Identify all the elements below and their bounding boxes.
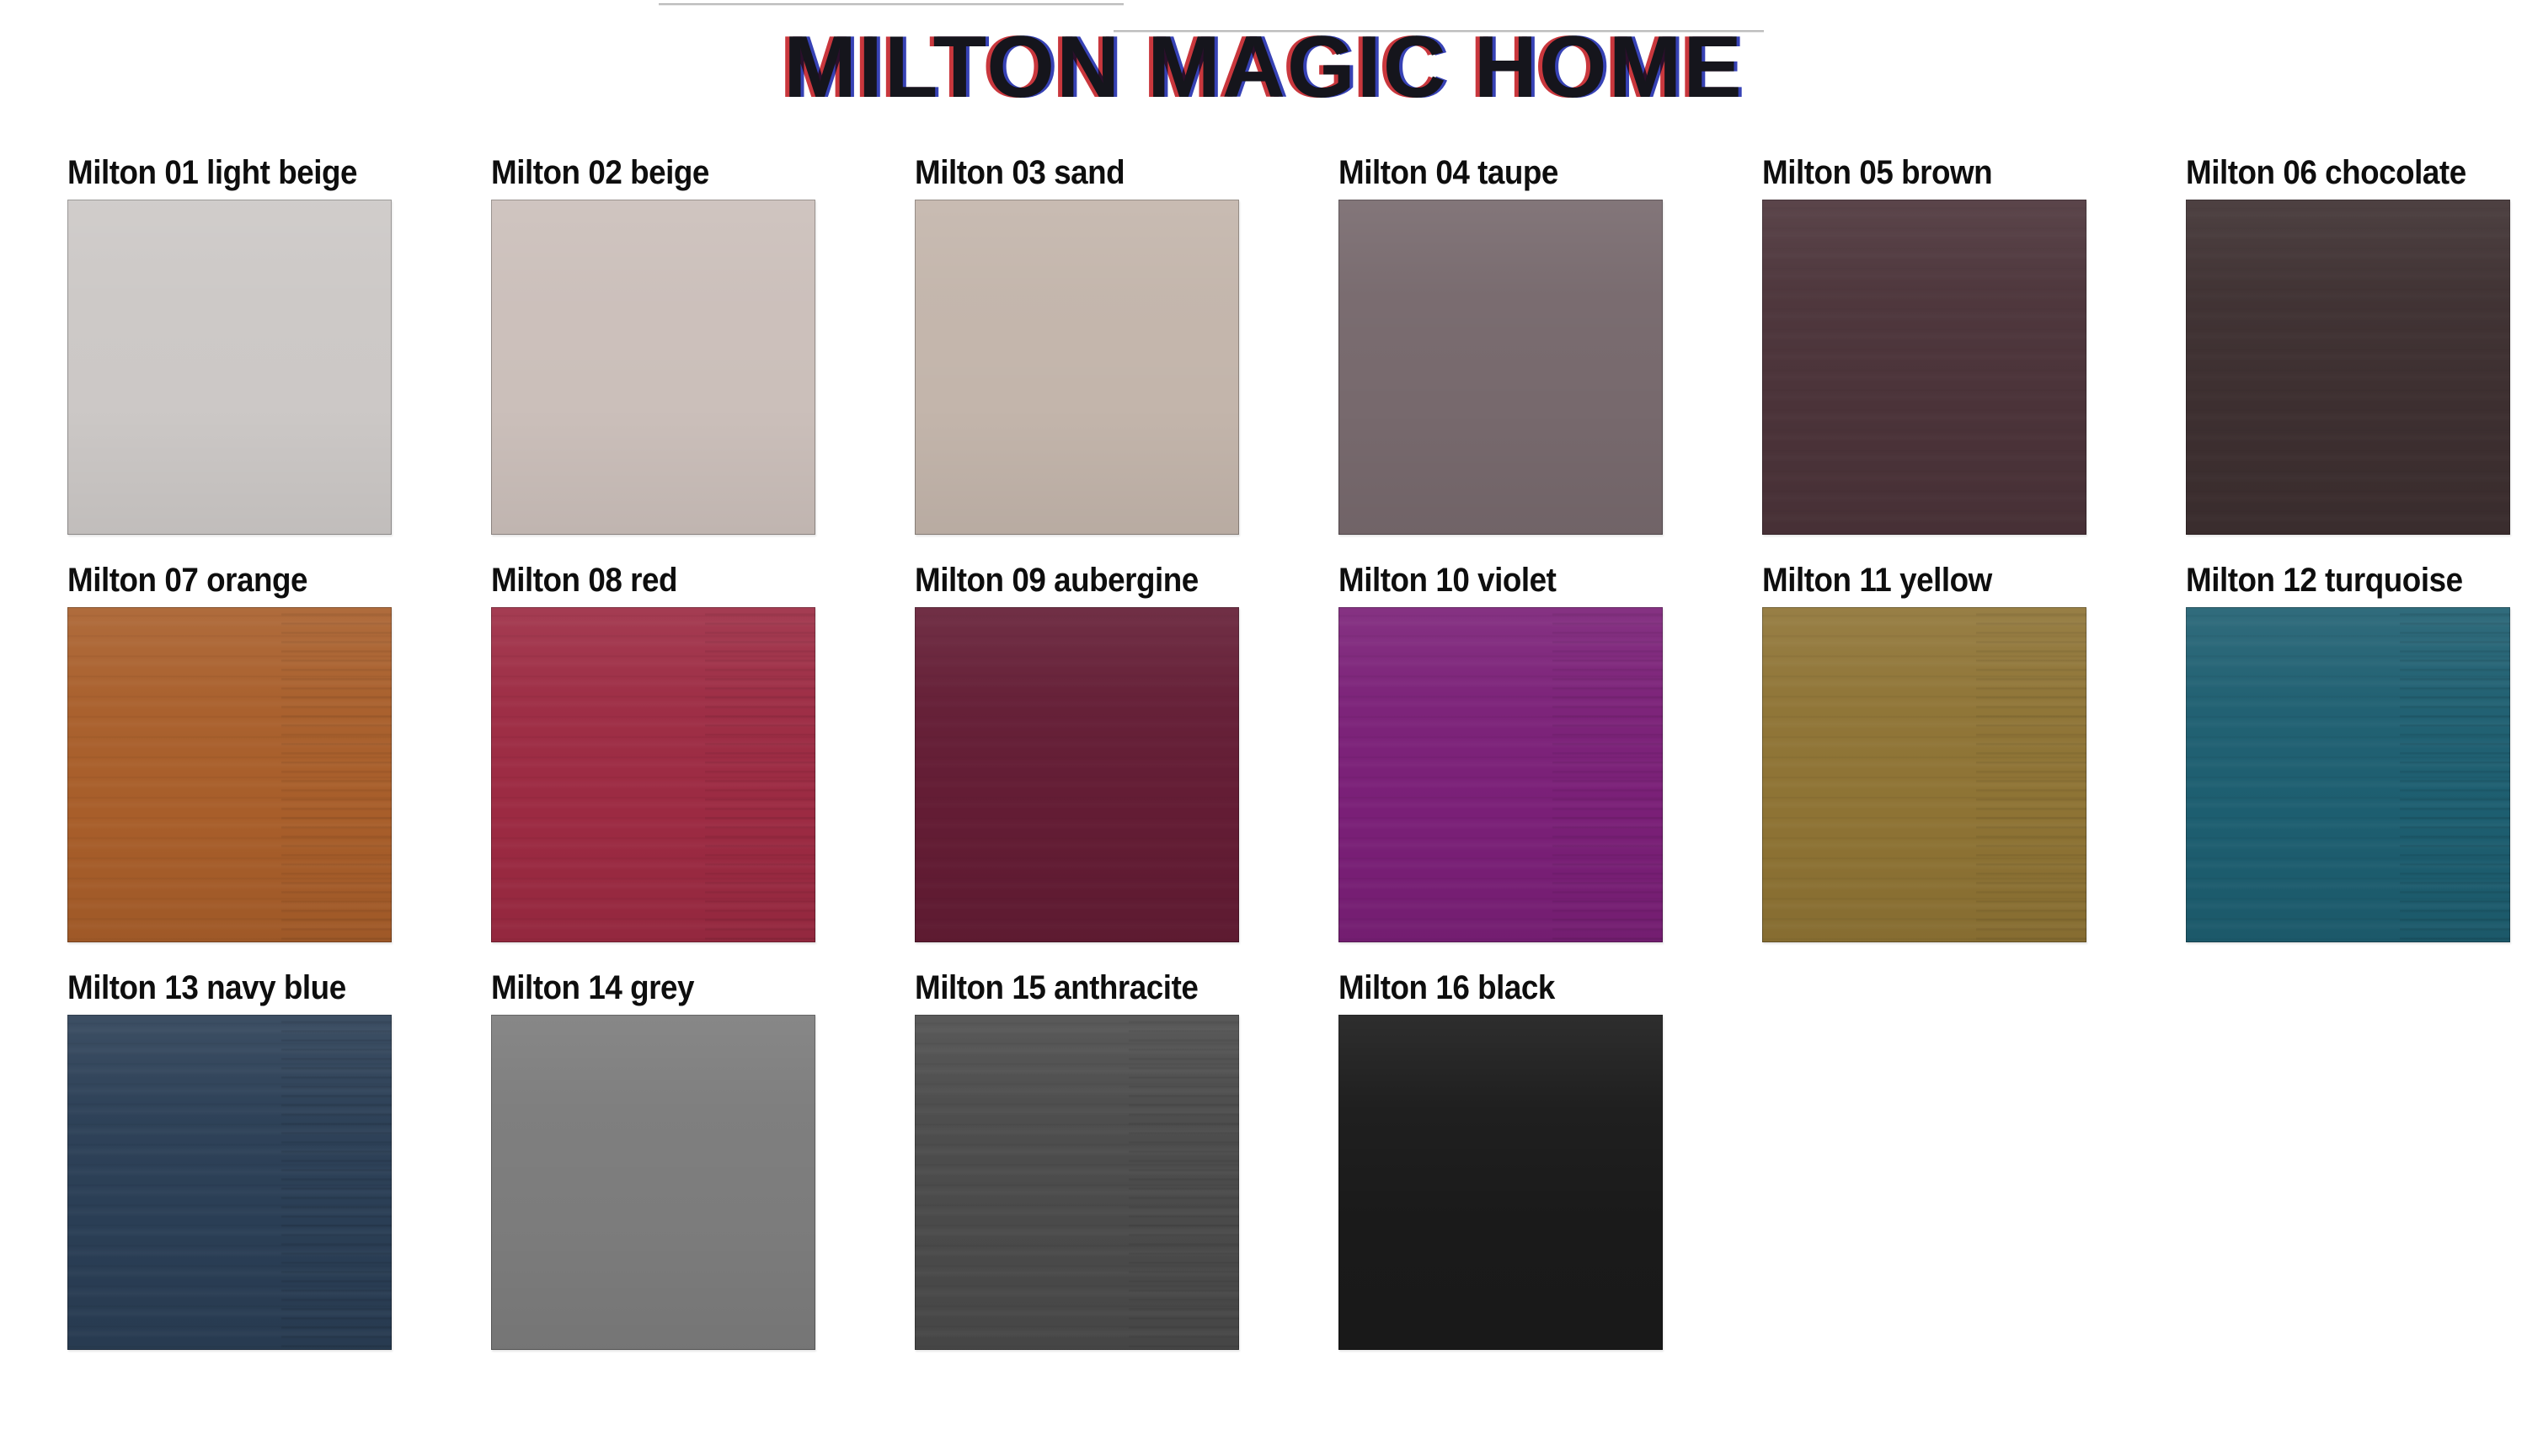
swatch-grain-edge — [281, 1015, 392, 1350]
swatch-cell-05[interactable]: Milton 05 brown — [1762, 156, 2086, 535]
swatch-grain-edge — [281, 607, 392, 942]
header-rule-left — [659, 3, 1124, 6]
swatch-cell-12[interactable]: Milton 12 turquoise — [2186, 563, 2510, 942]
swatch-cell-09[interactable]: Milton 09 aubergine — [915, 563, 1239, 942]
swatch-label: Milton 08 red — [491, 563, 789, 607]
swatch-label: Milton 02 beige — [491, 156, 789, 200]
color-swatch[interactable] — [1338, 200, 1663, 535]
swatch-cell-01[interactable]: Milton 01 light beige — [67, 156, 392, 535]
color-swatch[interactable] — [915, 200, 1239, 535]
color-swatch[interactable] — [1338, 1015, 1663, 1350]
swatch-cell-empty — [1762, 971, 2086, 1350]
color-swatch[interactable] — [491, 607, 815, 942]
swatch-label: Milton 15 anthracite — [915, 971, 1213, 1015]
swatch-label: Milton 07 orange — [67, 563, 366, 607]
swatch-cell-03[interactable]: Milton 03 sand — [915, 156, 1239, 535]
color-swatch[interactable] — [491, 200, 815, 535]
page-header: MILTON MAGIC HOME MILTON MAGIC HOME MILT… — [0, 0, 2527, 156]
swatch-label: Milton 05 brown — [1762, 156, 2060, 200]
swatch-label: Milton 13 navy blue — [67, 971, 366, 1015]
color-swatch-grid: Milton 01 light beigeMilton 02 beigeMilt… — [67, 156, 2460, 1350]
swatch-cell-16[interactable]: Milton 16 black — [1338, 971, 1663, 1350]
swatch-label: Milton 04 taupe — [1338, 156, 1637, 200]
swatch-label: Milton 16 black — [1338, 971, 1637, 1015]
swatch-cell-14[interactable]: Milton 14 grey — [491, 971, 815, 1350]
swatch-cell-10[interactable]: Milton 10 violet — [1338, 563, 1663, 942]
swatch-cell-11[interactable]: Milton 11 yellow — [1762, 563, 2086, 942]
title-text: MILTON MAGIC HOME — [783, 19, 1743, 116]
swatch-cell-07[interactable]: Milton 07 orange — [67, 563, 392, 942]
swatch-cell-04[interactable]: Milton 04 taupe — [1338, 156, 1663, 535]
swatch-cell-06[interactable]: Milton 06 chocolate — [2186, 156, 2510, 535]
swatch-label: Milton 03 sand — [915, 156, 1213, 200]
swatch-grain-edge — [2400, 607, 2510, 942]
swatch-label: Milton 11 yellow — [1762, 563, 2060, 607]
color-swatch[interactable] — [1762, 200, 2086, 535]
swatch-label: Milton 09 aubergine — [915, 563, 1213, 607]
color-swatch[interactable] — [491, 1015, 815, 1350]
swatch-grain-edge — [1129, 1015, 1239, 1350]
swatch-label: Milton 01 light beige — [67, 156, 366, 200]
swatch-grain-edge — [1552, 607, 1663, 942]
swatch-cell-13[interactable]: Milton 13 navy blue — [67, 971, 392, 1350]
swatch-label: Milton 06 chocolate — [2186, 156, 2484, 200]
color-swatch[interactable] — [1338, 607, 1663, 942]
swatch-label: Milton 10 violet — [1338, 563, 1637, 607]
color-swatch[interactable] — [1762, 607, 2086, 942]
swatch-label: Milton 12 turquoise — [2186, 563, 2484, 607]
color-swatch[interactable] — [915, 607, 1239, 942]
swatch-grain-edge — [705, 607, 815, 942]
color-swatch[interactable] — [67, 200, 392, 535]
color-swatch[interactable] — [2186, 200, 2510, 535]
swatch-cell-02[interactable]: Milton 02 beige — [491, 156, 815, 535]
page-title: MILTON MAGIC HOME MILTON MAGIC HOME MILT… — [0, 24, 2527, 116]
swatch-cell-08[interactable]: Milton 08 red — [491, 563, 815, 942]
swatch-label: Milton 14 grey — [491, 971, 789, 1015]
color-swatch[interactable] — [67, 607, 392, 942]
swatch-cell-empty — [2186, 971, 2510, 1350]
color-swatch[interactable] — [915, 1015, 1239, 1350]
color-swatch[interactable] — [2186, 607, 2510, 942]
color-swatch[interactable] — [67, 1015, 392, 1350]
swatch-cell-15[interactable]: Milton 15 anthracite — [915, 971, 1239, 1350]
swatch-grain-edge — [1976, 607, 2086, 942]
